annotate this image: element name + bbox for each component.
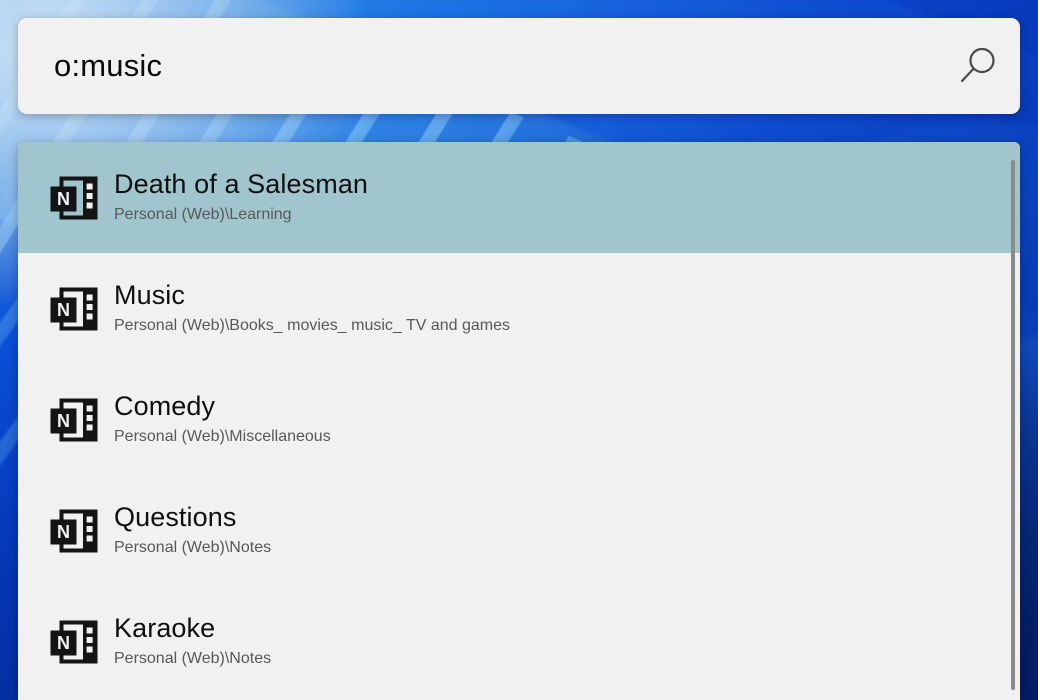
results-scrollbar-thumb[interactable] [1011,160,1015,690]
result-title: Music [114,280,510,311]
result-title: Comedy [114,391,331,422]
onenote-icon: N [40,509,106,553]
result-title: Questions [114,502,271,533]
search-input[interactable] [18,48,934,84]
result-text: Questions Personal (Web)\Notes [106,502,271,560]
onenote-icon: N [40,287,106,331]
search-button[interactable] [934,18,1020,114]
svg-text:N: N [57,633,70,653]
result-subtitle: Personal (Web)\Learning [114,203,368,226]
onenote-icon: N [40,176,106,220]
result-row[interactable]: N Questions Personal (Web)\Notes [18,475,1020,586]
result-title: Death of a Salesman [114,169,368,200]
result-text: Karaoke Personal (Web)\Notes [106,613,271,671]
search-bar[interactable] [18,18,1020,114]
result-subtitle: Personal (Web)\Miscellaneous [114,425,331,448]
result-subtitle: Personal (Web)\Notes [114,536,271,559]
search-icon [954,43,1000,89]
result-row[interactable]: N Death of a Salesman Personal (Web)\Lea… [18,142,1020,253]
svg-text:N: N [57,411,70,431]
desktop-wallpaper: N Death of a Salesman Personal (Web)\Lea… [0,0,1038,700]
result-row[interactable]: N Music Personal (Web)\Books_ movies_ mu… [18,253,1020,364]
onenote-icon: N [40,620,106,664]
search-results-panel: N Death of a Salesman Personal (Web)\Lea… [18,142,1020,700]
results-scrollbar[interactable] [1008,142,1018,700]
result-text: Music Personal (Web)\Books_ movies_ musi… [106,280,510,338]
result-row[interactable]: N Karaoke Personal (Web)\Notes [18,586,1020,697]
result-subtitle: Personal (Web)\Notes [114,647,271,670]
svg-text:N: N [57,189,70,209]
result-text: Death of a Salesman Personal (Web)\Learn… [106,169,368,227]
result-text: Comedy Personal (Web)\Miscellaneous [106,391,331,449]
svg-text:N: N [57,300,70,320]
search-results-list: N Death of a Salesman Personal (Web)\Lea… [18,142,1020,697]
result-row[interactable]: N Comedy Personal (Web)\Miscellaneous [18,364,1020,475]
svg-text:N: N [57,522,70,542]
result-title: Karaoke [114,613,271,644]
onenote-icon: N [40,398,106,442]
result-subtitle: Personal (Web)\Books_ movies_ music_ TV … [114,314,510,337]
